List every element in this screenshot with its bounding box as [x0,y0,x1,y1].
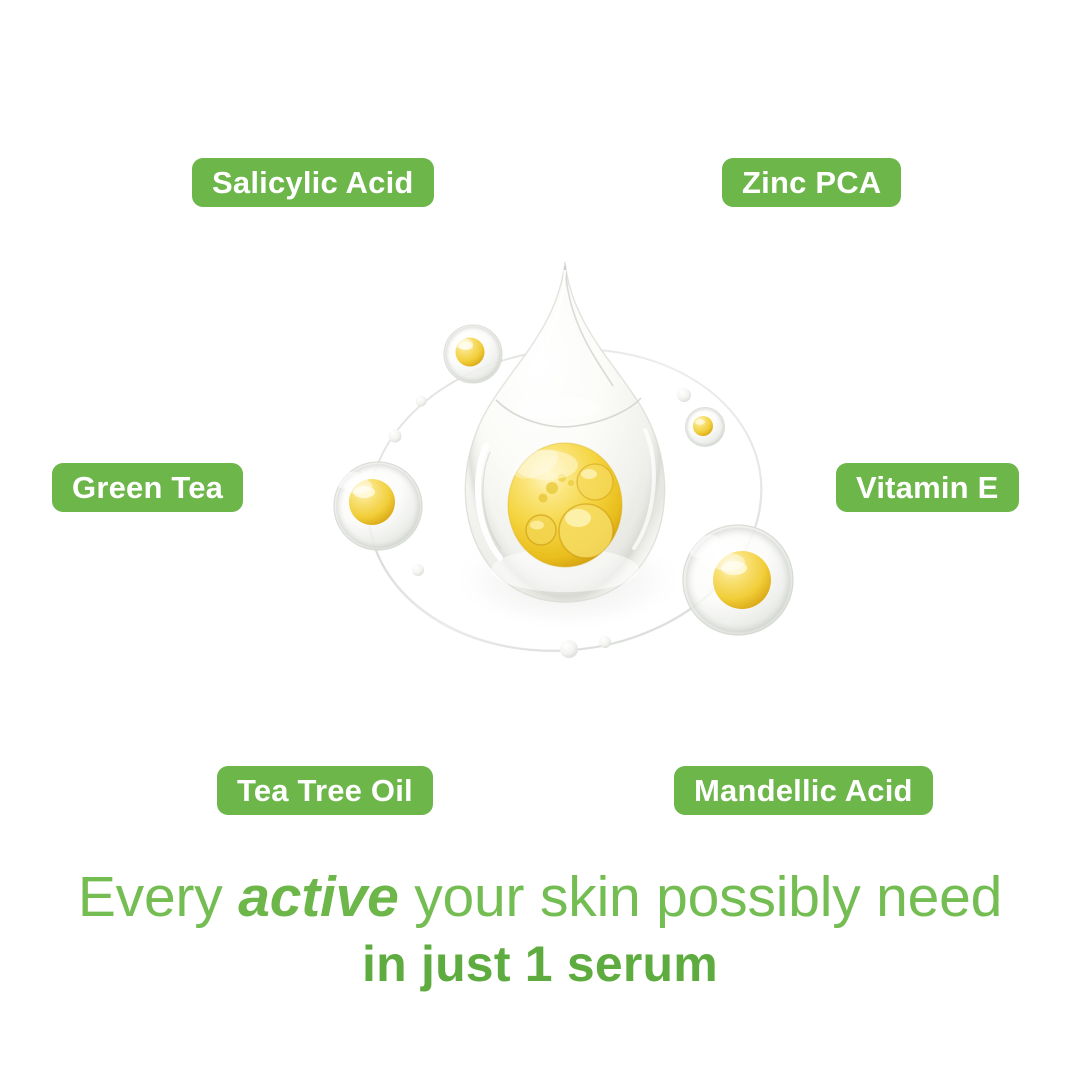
badge-label: Salicylic Acid [212,167,414,198]
badge-label: Green Tea [72,472,223,503]
promo-graphic: Salicylic Acid Zinc PCA Green Tea Vitami… [0,0,1080,1080]
serum-droplet [465,262,664,602]
tagline-line-2: in just 1 serum [0,939,1080,989]
bead [416,396,427,407]
bead [677,388,691,402]
bead [599,636,611,648]
tagline-emphasis: active [238,865,398,929]
capsule-left [334,462,422,550]
badge-mandellic-acid: Mandellic Acid [674,766,933,815]
badge-label: Vitamin E [856,472,999,503]
badge-green-tea: Green Tea [52,463,243,512]
capsule-top-left [444,325,502,383]
badge-tea-tree-oil: Tea Tree Oil [217,766,433,815]
golden-oil-core [508,443,622,567]
badge-label: Tea Tree Oil [237,775,413,806]
tagline-line-1: Every active your skin possibly need [0,869,1080,926]
tagline-line1-before: Every [78,865,238,929]
bead [560,640,578,658]
badge-vitamin-e: Vitamin E [836,463,1019,512]
badge-label: Zinc PCA [742,167,881,198]
capsule-right-small [686,408,725,447]
badge-zinc-pca: Zinc PCA [722,158,901,207]
bead [389,430,402,443]
badge-salicylic-acid: Salicylic Acid [192,158,434,207]
serum-droplet-illustration [300,240,830,700]
capsule-bottom-right [683,525,793,635]
badge-label: Mandellic Acid [694,775,913,806]
bead [412,564,424,576]
tagline-line1-after: your skin possibly need [399,865,1003,929]
